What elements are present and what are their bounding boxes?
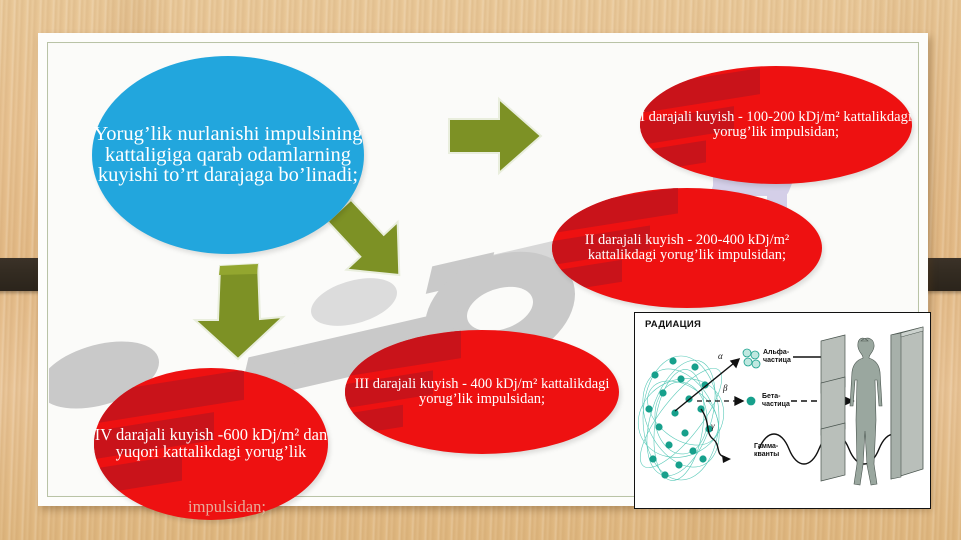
watermark-shape-grey-bar-2 [426,252,494,294]
beta-particle [747,397,756,406]
radiation-figure[interactable]: РАДИАЦИЯ [634,312,931,509]
intro-text: Yorug’lik nurlanishi impulsining kattali… [92,124,364,187]
presentation-slide: Yorug’lik nurlanishi impulsining kattali… [0,0,961,540]
watermark-shape-grey-ring-hole [467,281,533,337]
human-silhouette [850,338,882,485]
gamma-arrowhead-start [722,455,731,463]
atom-cloud [635,352,738,485]
degree-3-ellipse[interactable]: III darajali kuyish - 400 kDj/m² kattali… [345,330,619,454]
degree-2-ellipse[interactable]: II darajali kuyish - 200-400 kDj/m² katt… [552,188,822,308]
degree-4-text: IV darajali kuyish -600 kDj/m² dan yuqor… [94,427,328,461]
alpha-symbol: α [718,351,723,361]
gamma-quanta-label: Гамма-кванты [754,443,800,459]
atom-nucleons [645,357,712,478]
degree-1-ellipse[interactable]: I darajali kuyish - 100-200 kDj/m² katta… [640,66,912,184]
degree-2-text: II darajali kuyish - 200-400 kDj/m² katt… [552,233,822,263]
slide-frame: Yorug’lik nurlanishi impulsining kattali… [38,33,928,506]
degree-1-text: I darajali kuyish - 100-200 kDj/m² katta… [640,110,912,140]
degree-3-text: III darajali kuyish - 400 kDj/m² kattali… [345,377,619,407]
beta-symbol: β [723,383,727,393]
alpha-particle-cluster [743,349,760,368]
alpha-particle-label: Альфа-частица [763,349,809,365]
slide-canvas: Yorug’lik nurlanishi impulsining kattali… [49,44,917,495]
intro-ellipse[interactable]: Yorug’lik nurlanishi impulsining kattali… [92,56,364,254]
beta-particle-label: Бета-частица [762,393,808,409]
alpha-ray [675,359,739,411]
shield-plates [821,335,845,481]
gamma-ray [701,409,725,457]
gamma-symbol: γ [711,421,715,431]
radiation-diagram-graphics [635,313,930,508]
concrete-block [891,327,923,479]
arrow-down-shape [195,264,283,359]
arrow-right-shape [449,99,541,173]
degree-4-overflow-text: impulsidan; [110,497,344,517]
